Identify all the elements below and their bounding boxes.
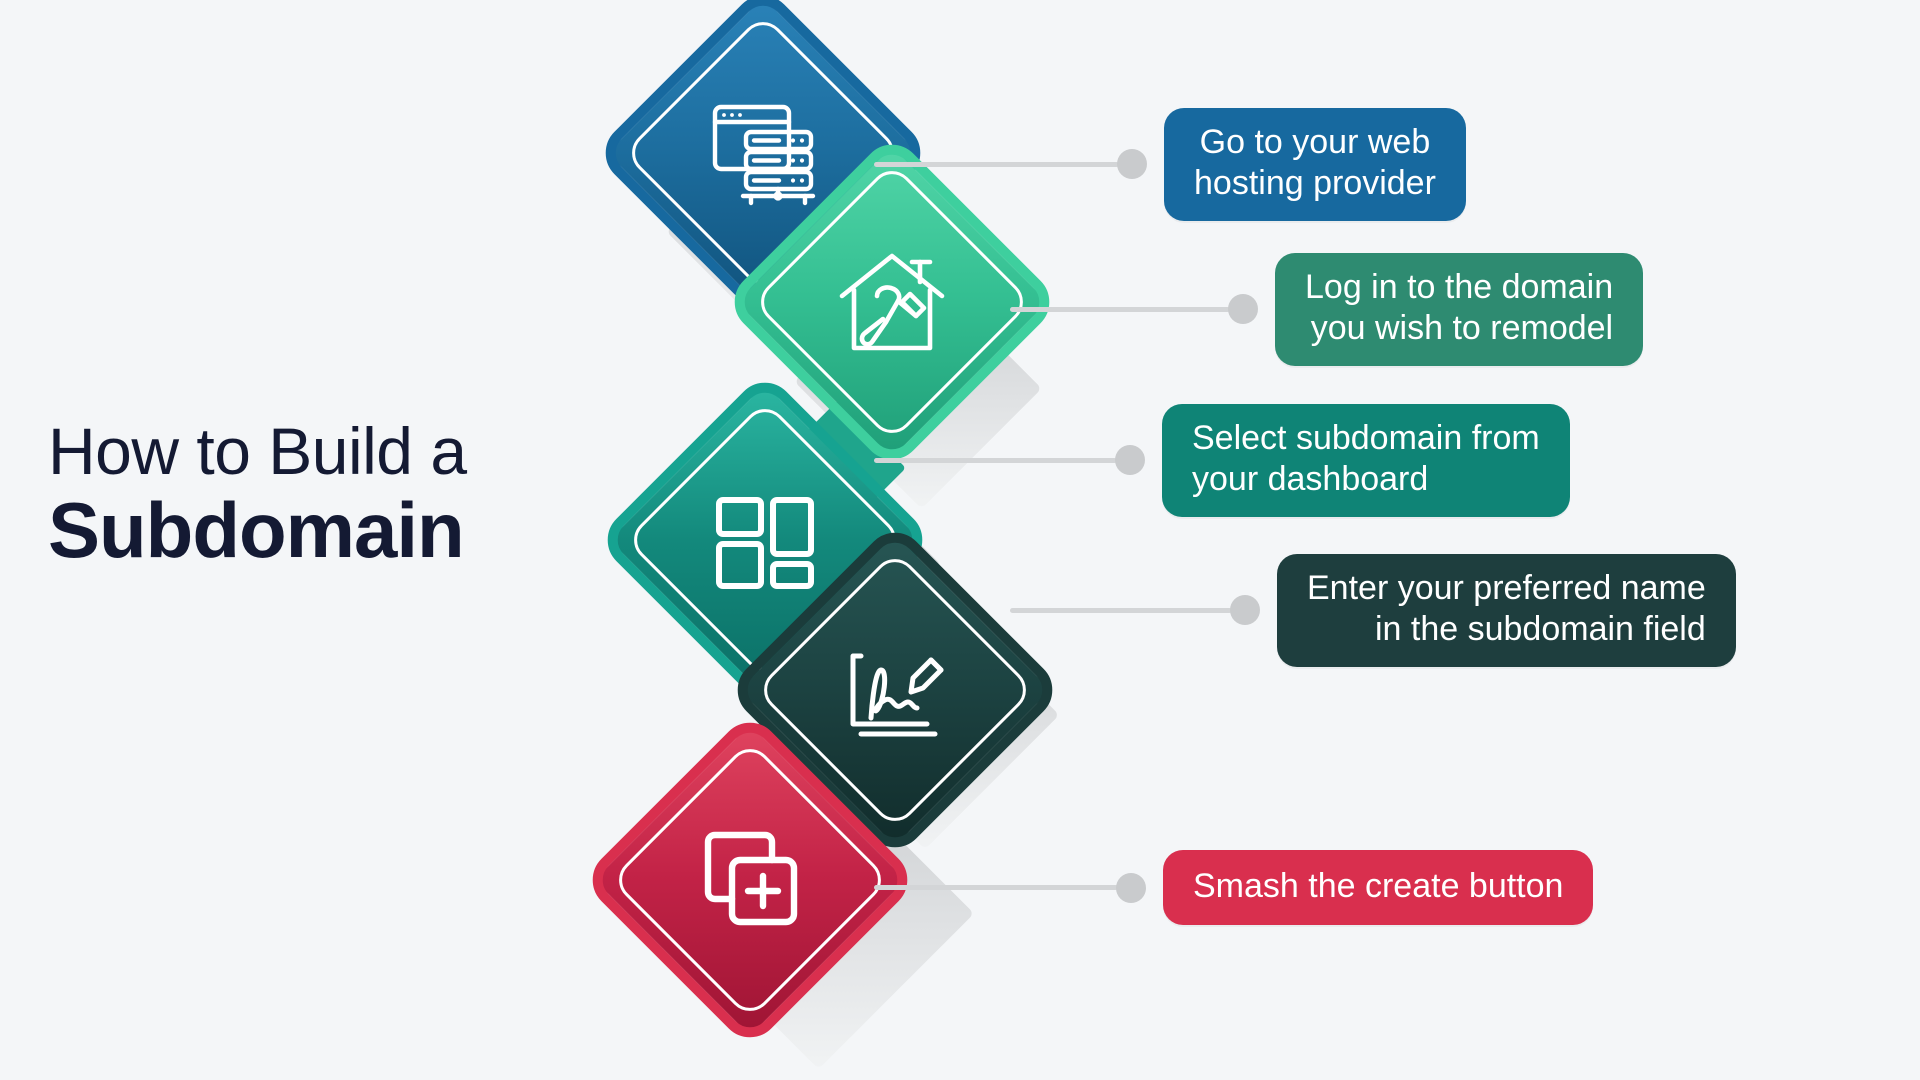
leader-line-4 xyxy=(1010,608,1232,613)
leader-line-3 xyxy=(874,458,1117,463)
callout-row-4: Enter your preferred name in the subdoma… xyxy=(1010,554,1736,667)
callout-row-3: Select subdomain from your dashboard xyxy=(874,404,1570,517)
step-label-1[interactable]: Go to your web hosting provider xyxy=(1164,108,1466,221)
step-diamond-5[interactable] xyxy=(580,710,919,1049)
leader-dot-5 xyxy=(1116,873,1146,903)
leader-dot-2 xyxy=(1228,294,1258,324)
leader-line-2 xyxy=(1010,307,1230,312)
callout-row-2: Log in to the domain you wish to remodel xyxy=(1010,253,1643,366)
leader-dot-1 xyxy=(1117,149,1147,179)
step-label-3[interactable]: Select subdomain from your dashboard xyxy=(1162,404,1570,517)
step-label-5[interactable]: Smash the create button xyxy=(1163,850,1593,925)
signature-pencil-icon xyxy=(831,626,959,754)
house-hammer-remodel-icon xyxy=(828,238,956,366)
leader-dot-4 xyxy=(1230,595,1260,625)
step-label-2[interactable]: Log in to the domain you wish to remodel xyxy=(1275,253,1643,366)
step-node-5[interactable] xyxy=(630,760,870,1000)
duplicate-add-icon xyxy=(686,816,814,944)
leader-line-5 xyxy=(874,885,1118,890)
leader-line-1 xyxy=(874,162,1119,167)
callout-row-1: Go to your web hosting provider xyxy=(874,108,1466,221)
callout-row-5: Smash the create button xyxy=(874,850,1593,925)
step-label-4[interactable]: Enter your preferred name in the subdoma… xyxy=(1277,554,1736,667)
leader-dot-3 xyxy=(1115,445,1145,475)
